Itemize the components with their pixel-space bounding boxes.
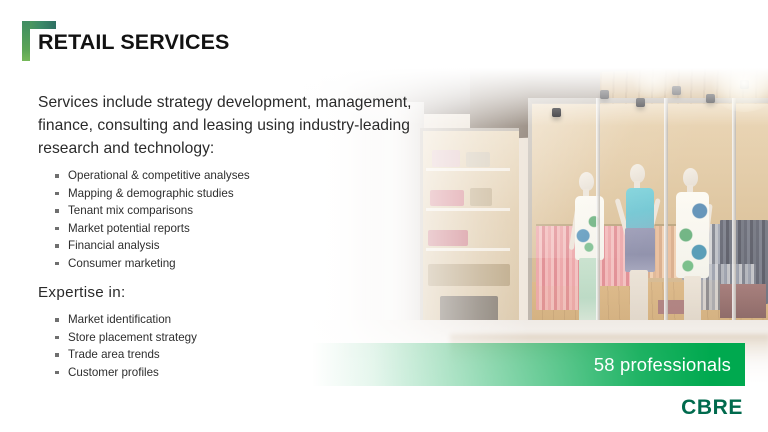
list-item: Store placement strategy xyxy=(50,329,197,347)
bracket-vertical-bar xyxy=(22,21,30,61)
cbre-logo: CBRE xyxy=(681,396,743,420)
list-item: Operational & competitive analyses xyxy=(50,167,250,185)
intro-paragraph: Services include strategy development, m… xyxy=(38,91,458,160)
slide-canvas: RETAIL SERVICES Services include strateg… xyxy=(0,0,768,432)
list-item: Customer profiles xyxy=(50,364,197,382)
list-item: Financial analysis xyxy=(50,237,250,255)
list-item: Tenant mix comparisons xyxy=(50,202,250,220)
list-item: Consumer marketing xyxy=(50,255,250,273)
services-bullet-list: Operational & competitive analyses Mappi… xyxy=(50,167,250,273)
list-item: Market potential reports xyxy=(50,220,250,238)
expertise-bullet-list: Market identification Store placement st… xyxy=(50,311,197,381)
list-item: Mapping & demographic studies xyxy=(50,185,250,203)
stat-banner-label: 58 professionals xyxy=(594,354,745,376)
page-title: RETAIL SERVICES xyxy=(38,30,229,55)
stat-banner: 58 professionals xyxy=(312,343,745,386)
expertise-heading: Expertise in: xyxy=(38,284,125,301)
list-item: Trade area trends xyxy=(50,346,197,364)
list-item: Market identification xyxy=(50,311,197,329)
